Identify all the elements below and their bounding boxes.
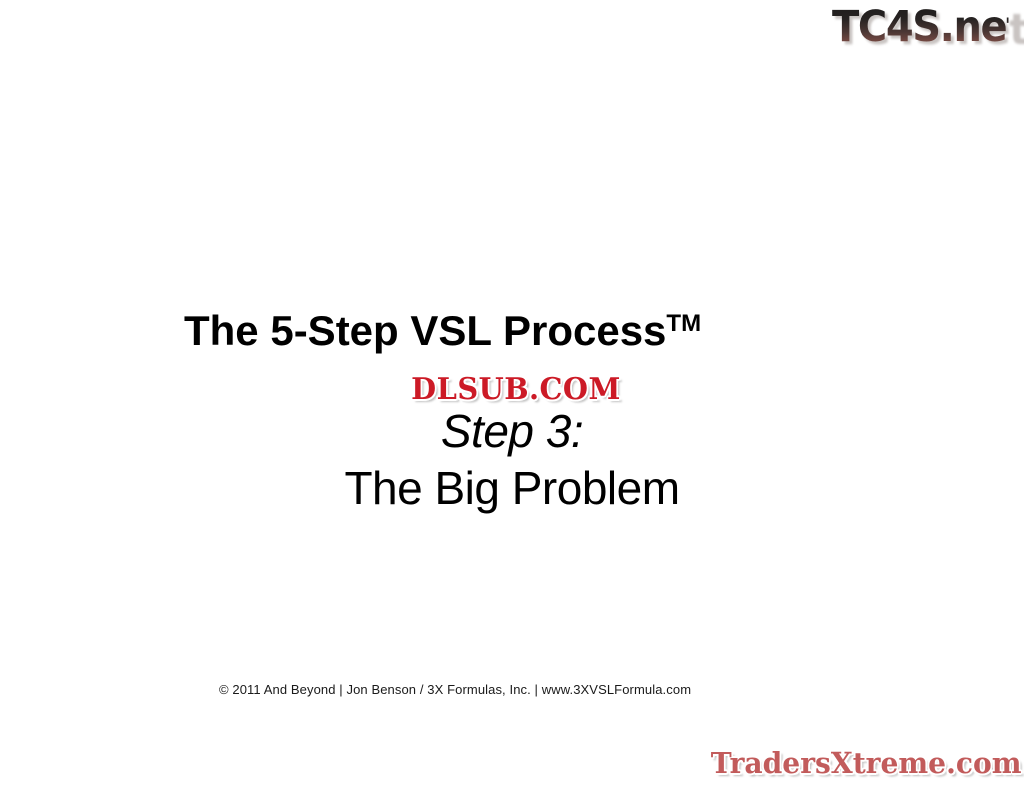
page-title: The 5-Step VSL ProcessTM — [184, 300, 701, 355]
tc4s-logo-text: TC4S.net — [832, 2, 1009, 52]
tc4s-logo: TC4S.net TC4S.net — [832, 2, 1022, 54]
trademark-symbol: TM — [666, 310, 701, 337]
subtitle-step-label: Step 3: — [0, 404, 1024, 458]
page-title-text: The 5-Step VSL Process — [184, 307, 666, 354]
subtitle-topic-label: The Big Problem — [0, 458, 1024, 518]
subtitle-block: Step 3: The Big Problem — [0, 404, 1024, 518]
dlsub-watermark: DLSUB.COM — [374, 373, 658, 409]
footer-credit: © 2011 And Beyond | Jon Benson / 3X Form… — [219, 681, 691, 699]
tradersxtreme-watermark: TradersXtreme.com — [711, 746, 1016, 782]
presentation-slide: TC4S.net TC4S.net The 5-Step VSL Process… — [0, 0, 1024, 791]
